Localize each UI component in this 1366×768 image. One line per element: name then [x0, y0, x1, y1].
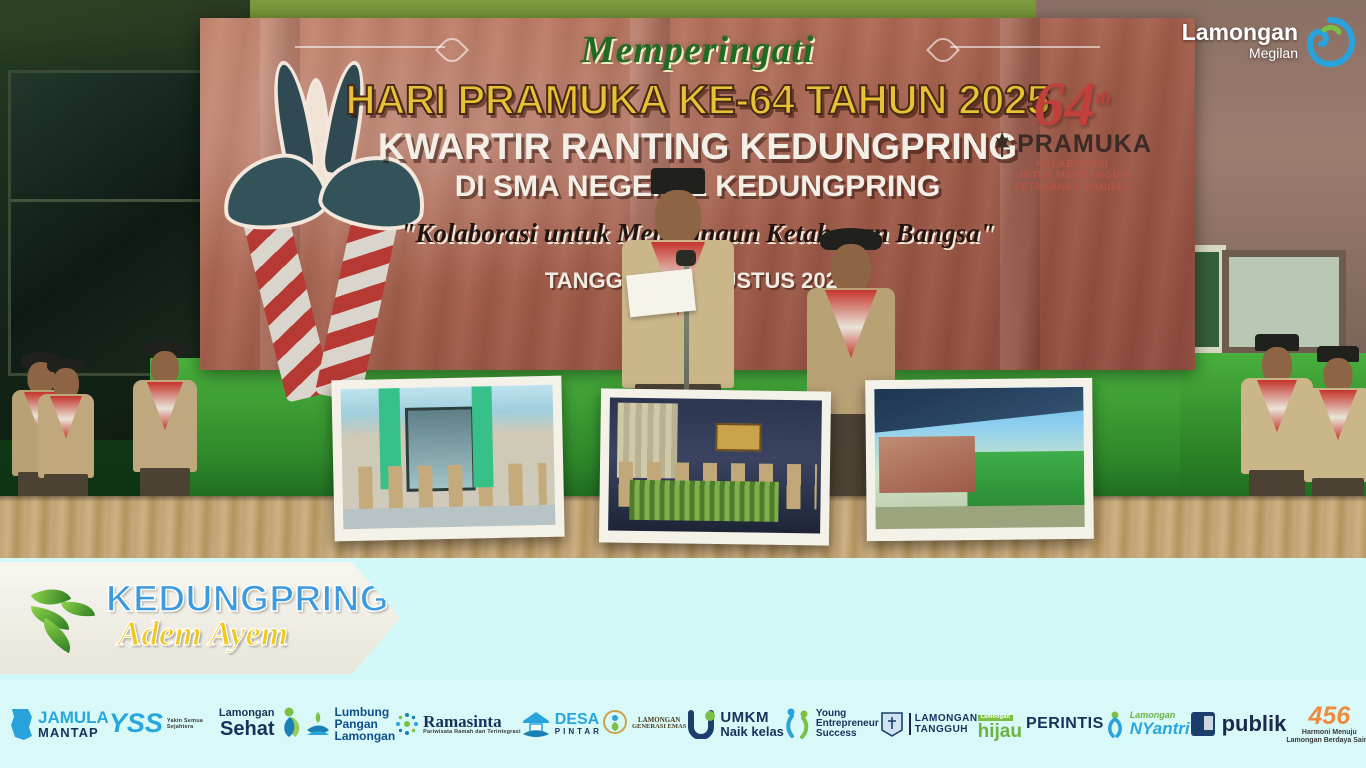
- bamboo-leaf-4: [61, 598, 95, 620]
- inset-3-image: [874, 387, 1084, 529]
- inset-photo-sekolah: [331, 376, 564, 542]
- logo-hut-lamongan-456: 456 Harmoni Menuju Lamongan Berdaya Sain…: [1286, 704, 1366, 743]
- generasi-emas-icon: [602, 710, 628, 738]
- sehat-leaf-person-icon: [279, 707, 305, 741]
- yss-sub: Yakin Semua Sejahtera: [167, 718, 219, 730]
- umkm-line2: Naik kelas: [720, 725, 784, 738]
- tunas-kelapa-icon: [992, 131, 1012, 157]
- inset-2-plaque: [715, 423, 762, 452]
- pramuka-64-logo: 64th PRAMUKA KOLABORASI UNTUK MEMBANGUN …: [977, 78, 1167, 208]
- main-photo: Memperingati HARI PRAMUKA KE-64 TAHUN 20…: [0, 0, 1366, 558]
- logo-lamongan-sehat: Lamongan Sehat: [219, 707, 305, 741]
- inset-3-ground: [875, 505, 1084, 530]
- inset-photo-spanduk: [865, 378, 1094, 541]
- yes-line3: Success: [816, 729, 879, 739]
- logo-lumbung-pangan-lamongan: Lumbung Pangan Lamongan: [305, 706, 396, 743]
- publik-line1: publik: [1222, 713, 1287, 735]
- megilan-line1: Lamongan: [1182, 21, 1298, 44]
- tangguh-shield-icon: [879, 710, 905, 738]
- scout-head: [831, 244, 871, 292]
- kedungpring-adem-ayem-logo: KEDUNGPRING Adem Ayem: [0, 562, 400, 674]
- inset-1-image: [341, 385, 556, 529]
- banner-memperingati: Memperingati: [200, 28, 1195, 72]
- tangguh-line2: TANGGUH: [915, 724, 978, 735]
- ramasinta-line1: Ramasinta: [423, 713, 521, 730]
- logo-umkm-naik-kelas: UMKM Naik kelas: [686, 709, 784, 739]
- yes-person-icon: [784, 708, 812, 740]
- logo-lamongan-hijau-perintis: Lamongan hijau PERINTIS: [978, 706, 1104, 742]
- lumbung-pangan-icon: [305, 710, 331, 738]
- perintis-line: PERINTIS: [1026, 716, 1104, 732]
- caption-bar: KEDUNGPRING Adem Ayem Sekcam Kedungpring…: [0, 558, 1366, 680]
- lamongan-megilan-logo: Lamongan Megilan: [1182, 16, 1356, 68]
- nyantri-line1: NYantri: [1130, 720, 1190, 737]
- inset-3-building: [967, 451, 1085, 511]
- megilan-swirl-icon: [1304, 16, 1356, 68]
- hut-number: 456: [1286, 704, 1366, 729]
- inset-3-banner: [879, 436, 976, 493]
- jamula-line1: JAMULA: [38, 709, 109, 726]
- logo-ramasinta: Ramasinta Pariwisata Ramah dan Terintegr…: [395, 712, 521, 736]
- jamula-line2: MANTAP: [38, 726, 109, 739]
- megilan-line2: Megilan: [1182, 44, 1298, 62]
- bamboo-leaf-icon: [28, 584, 100, 656]
- official-2-head: [1324, 358, 1353, 392]
- umkm-line1: UMKM: [720, 710, 784, 725]
- generasi-line2: GENERASI EMAS: [632, 724, 686, 731]
- jamula-map-icon: [8, 707, 34, 741]
- anniversary-number: 64: [1033, 71, 1095, 139]
- tangguh-line1: LAMONGAN: [915, 713, 978, 724]
- logo-young-entrepreneur-success: Young Entrepreneur Success: [784, 708, 879, 740]
- sehat-line2: Sehat: [219, 719, 275, 739]
- logo-desa-pintar: DESA PINTAR: [521, 710, 602, 738]
- microphone-icon: [676, 250, 696, 266]
- logo-yakin-semua-sejahtera: YSS Yakin Semua Sejahtera: [109, 710, 219, 738]
- umkm-u-icon: [686, 709, 716, 739]
- hut-line2: Harmoni Menuju: [1286, 729, 1366, 736]
- lumbung-line3: Lamongan: [335, 730, 396, 742]
- publik-square-icon: [1190, 710, 1218, 738]
- logo-lamongan-tangguh: LAMONGAN TANGGUH: [879, 710, 978, 738]
- yss-line1: YSS: [109, 710, 163, 738]
- partner-logo-strip: JAMULA MANTAP YSS Yakin Semua Sejahtera …: [0, 680, 1366, 768]
- pramuka-tagline-line2: UNTUK MEMBANGUN: [977, 170, 1167, 182]
- desa-line1: DESA: [555, 712, 602, 728]
- anniversary-suffix: th: [1095, 87, 1110, 107]
- news-graphic-page: Memperingati HARI PRAMUKA KE-64 TAHUN 20…: [0, 0, 1366, 768]
- ramasinta-sub: Pariwisata Ramah dan Terintegrasi: [423, 730, 521, 736]
- inset-2-table: [629, 480, 778, 522]
- speech-paper: [626, 269, 696, 318]
- photo-glass-window: [8, 70, 229, 376]
- ramasinta-burst-icon: [395, 712, 419, 736]
- logo-publik: publik: [1190, 710, 1287, 738]
- logo-lamongan-generasi-emas: LAMONGAN GENERASI EMAS: [602, 710, 686, 738]
- pramuka-tagline-line1: KOLABORASI: [977, 159, 1167, 171]
- desa-line2: PINTAR: [555, 728, 602, 736]
- hijau-line1: hijau: [978, 722, 1022, 741]
- desa-pintar-house-wifi-icon: [521, 710, 551, 738]
- inset-1-floor: [343, 505, 555, 529]
- logo-lamongan-nyantri: Lamongan NYantri: [1104, 710, 1190, 738]
- inset-photo-rapat: [599, 388, 831, 545]
- hijau-badge: Lamongan: [978, 715, 1013, 721]
- pramuka-tagline-line3: KETAHANAN BANGSA: [977, 182, 1167, 194]
- nyantri-person-icon: [1104, 710, 1126, 738]
- hut-sub: Lamongan Berdaya Saing: [1286, 737, 1366, 744]
- pramuka-wordmark: PRAMUKA: [1017, 130, 1152, 159]
- logo-jamula-mantap: JAMULA MANTAP: [8, 707, 109, 741]
- inset-2-image: [608, 398, 822, 534]
- kedungpring-subtitle: Adem Ayem: [118, 614, 288, 654]
- speaker-head: [655, 190, 701, 244]
